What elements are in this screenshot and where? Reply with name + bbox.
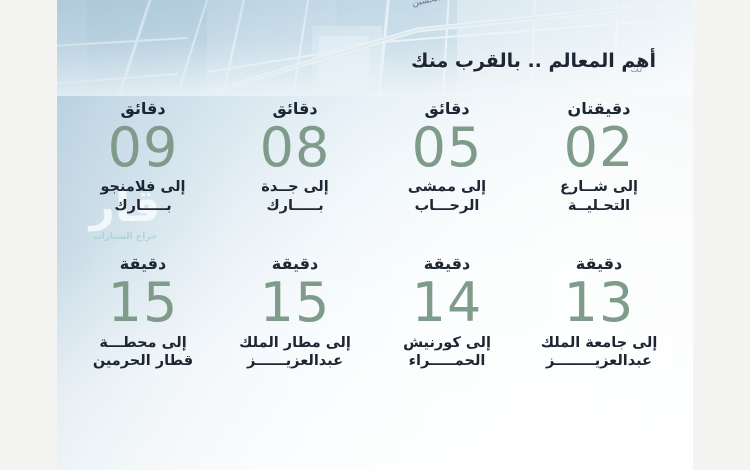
duration-number: 09 xyxy=(67,120,219,177)
destination-name: إلى ممشى الرحـــاب xyxy=(371,178,523,215)
destination-card[interactable]: دقائق 08 إلى جــدة بـــــارك xyxy=(219,100,371,215)
duration-unit: دقائق xyxy=(371,100,523,118)
destination-name: إلى كورنيش الحمـــــراء xyxy=(371,334,523,371)
destination-card[interactable]: دقيقة 14 إلى كورنيش الحمـــــراء xyxy=(371,255,523,370)
duration-number: 15 xyxy=(67,275,219,332)
duration-number: 02 xyxy=(523,120,675,177)
duration-number: 13 xyxy=(523,275,675,332)
destination-card[interactable]: دقائق 05 إلى ممشى الرحـــاب xyxy=(371,100,523,215)
destination-name: إلى مطار الملك عبدالعزيــــــز xyxy=(219,334,371,371)
map-background: الحسين لك xyxy=(57,0,693,96)
destination-card[interactable]: دقيقتان 02 إلى شــارع التحـليــة xyxy=(523,100,675,215)
destination-name: إلى فلامنجو بـــــارك xyxy=(67,178,219,215)
duration-unit: دقائق xyxy=(67,100,219,118)
destination-card[interactable]: دقيقة 15 إلى مطار الملك عبدالعزيــــــز xyxy=(219,255,371,370)
poster-card: الحسين لك أهم المعالم .. بالقرب منك قار … xyxy=(57,0,693,470)
map-vector xyxy=(57,0,693,96)
page-title: أهم المعالم .. بالقرب منك xyxy=(411,50,656,72)
duration-unit: دقيقتان xyxy=(523,100,675,118)
screenshot-root: الحسين لك أهم المعالم .. بالقرب منك قار … xyxy=(0,0,750,470)
destinations-row-1: دقيقتان 02 إلى شــارع التحـليــة دقائق 0… xyxy=(57,100,693,215)
duration-number: 15 xyxy=(219,275,371,332)
destination-card[interactable]: دقيقة 13 إلى جامعة الملك عبدالعزيـــــــ… xyxy=(523,255,675,370)
duration-unit: دقائق xyxy=(219,100,371,118)
destinations-row-2: دقيقة 13 إلى جامعة الملك عبدالعزيـــــــ… xyxy=(57,255,693,370)
destinations-grid: دقيقتان 02 إلى شــارع التحـليــة دقائق 0… xyxy=(57,100,693,371)
duration-number: 14 xyxy=(371,275,523,332)
duration-number: 05 xyxy=(371,120,523,177)
destination-name: إلى شــارع التحـليــة xyxy=(523,178,675,215)
destination-card[interactable]: دقيقة 15 إلى محطـــة قطار الحرمين xyxy=(67,255,219,370)
destination-card[interactable]: دقائق 09 إلى فلامنجو بـــــارك xyxy=(67,100,219,215)
duration-number: 08 xyxy=(219,120,371,177)
destination-name: إلى محطـــة قطار الحرمين xyxy=(67,334,219,371)
destination-name: إلى جامعة الملك عبدالعزيــــــــز xyxy=(523,334,675,371)
destination-name: إلى جــدة بـــــارك xyxy=(219,178,371,215)
